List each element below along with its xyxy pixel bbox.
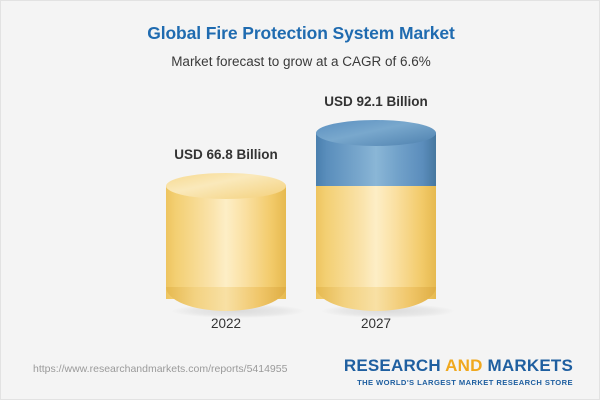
bar-group-2022: USD 66.8 Billion 2022 xyxy=(141,1,311,349)
market-forecast-chart-card: Global Fire Protection System Market Mar… xyxy=(0,0,600,400)
cylinder-segment-gold-2027 xyxy=(316,186,436,299)
cylinder-top-cap-2022 xyxy=(166,173,286,199)
value-label-2022: USD 66.8 Billion xyxy=(141,147,311,162)
bar-group-2027: USD 92.1 Billion 2027 xyxy=(291,1,461,349)
chart-footer: https://www.researchandmarkets.com/repor… xyxy=(1,347,600,399)
value-label-2027: USD 92.1 Billion xyxy=(291,94,461,109)
source-url-link[interactable]: https://www.researchandmarkets.com/repor… xyxy=(33,363,287,375)
research-and-markets-logo[interactable]: RESEARCH AND MARKETS THE WORLD'S LARGEST… xyxy=(344,356,573,387)
logo-word-and: AND xyxy=(445,356,482,375)
cylinder-segment-gold-2022 xyxy=(166,186,286,299)
logo-word-markets: MARKETS xyxy=(483,356,573,375)
logo-wordmark: RESEARCH AND MARKETS xyxy=(344,356,573,376)
cylinder-bar-2027[interactable] xyxy=(316,120,436,311)
cylinder-bar-2022[interactable] xyxy=(166,173,286,311)
logo-tagline: THE WORLD'S LARGEST MARKET RESEARCH STOR… xyxy=(344,378,573,387)
cylinder-top-cap-2027 xyxy=(316,120,436,146)
logo-word-research: RESEARCH xyxy=(344,356,445,375)
category-label-2022: 2022 xyxy=(141,316,311,331)
chart-plot-area: USD 66.8 Billion 2022 USD 92.1 Billion xyxy=(1,1,600,349)
category-label-2027: 2027 xyxy=(291,316,461,331)
